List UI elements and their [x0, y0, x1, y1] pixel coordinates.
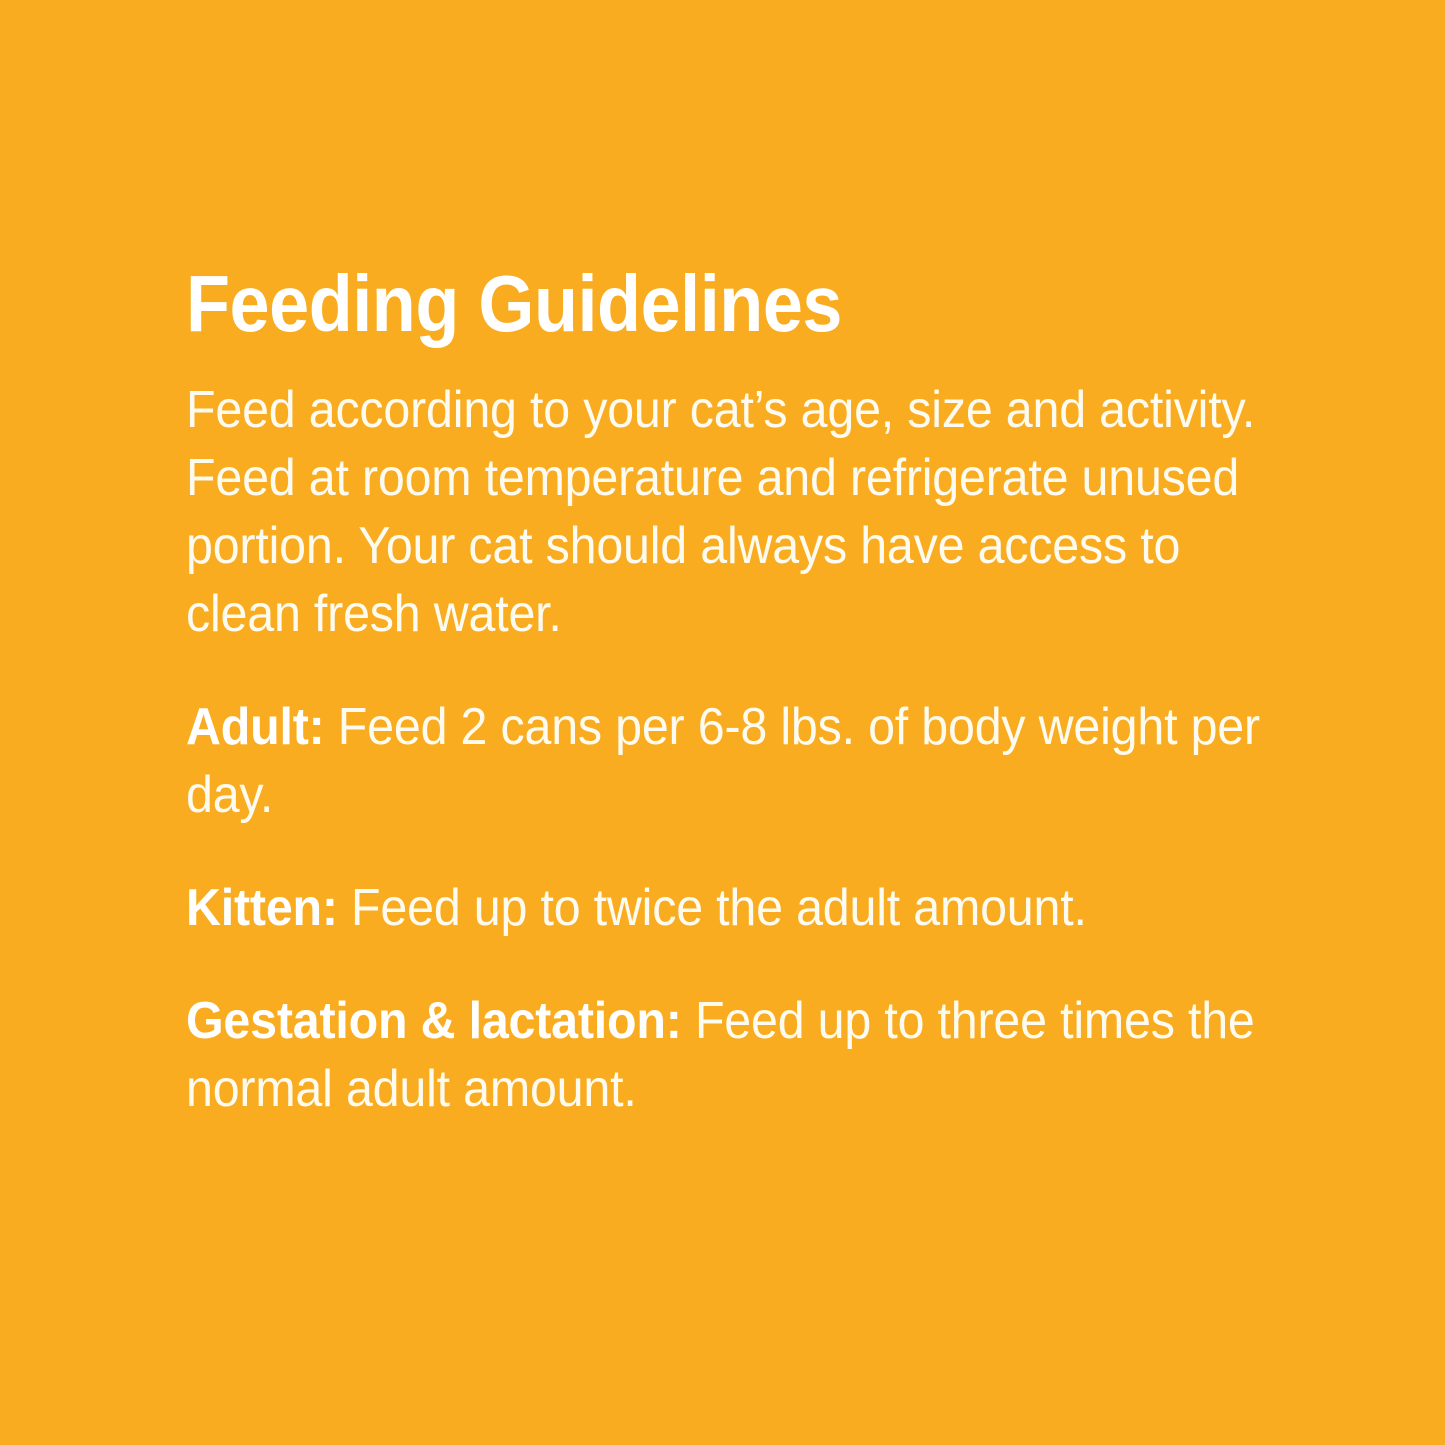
guideline-entry-adult: Adult: Feed 2 cans per 6-8 lbs. of body … [186, 693, 1265, 829]
guideline-entry-gestation-lactation: Gestation & lactation: Feed up to three … [186, 987, 1265, 1123]
guideline-label-kitten: Kitten: [186, 879, 338, 937]
guideline-text-kitten: Feed up to twice the adult amount. [351, 879, 1087, 937]
page-title: Feeding Guidelines [186, 258, 1167, 350]
content-container: Feeding Guidelines Feed according to you… [186, 258, 1276, 1123]
intro-paragraph: Feed according to your cat’s age, size a… [186, 376, 1265, 648]
guideline-entry-kitten: Kitten: Feed up to twice the adult amoun… [186, 874, 1265, 942]
guideline-label-adult: Adult: [186, 698, 325, 756]
guidelines-body: Feed according to your cat’s age, size a… [186, 376, 1276, 1123]
guideline-label-gestation-lactation: Gestation & lactation: [186, 992, 682, 1050]
guideline-text-adult: Feed 2 cans per 6-8 lbs. of body weight … [186, 698, 1260, 824]
feeding-guidelines-panel: Feeding Guidelines Feed according to you… [0, 0, 1445, 1445]
